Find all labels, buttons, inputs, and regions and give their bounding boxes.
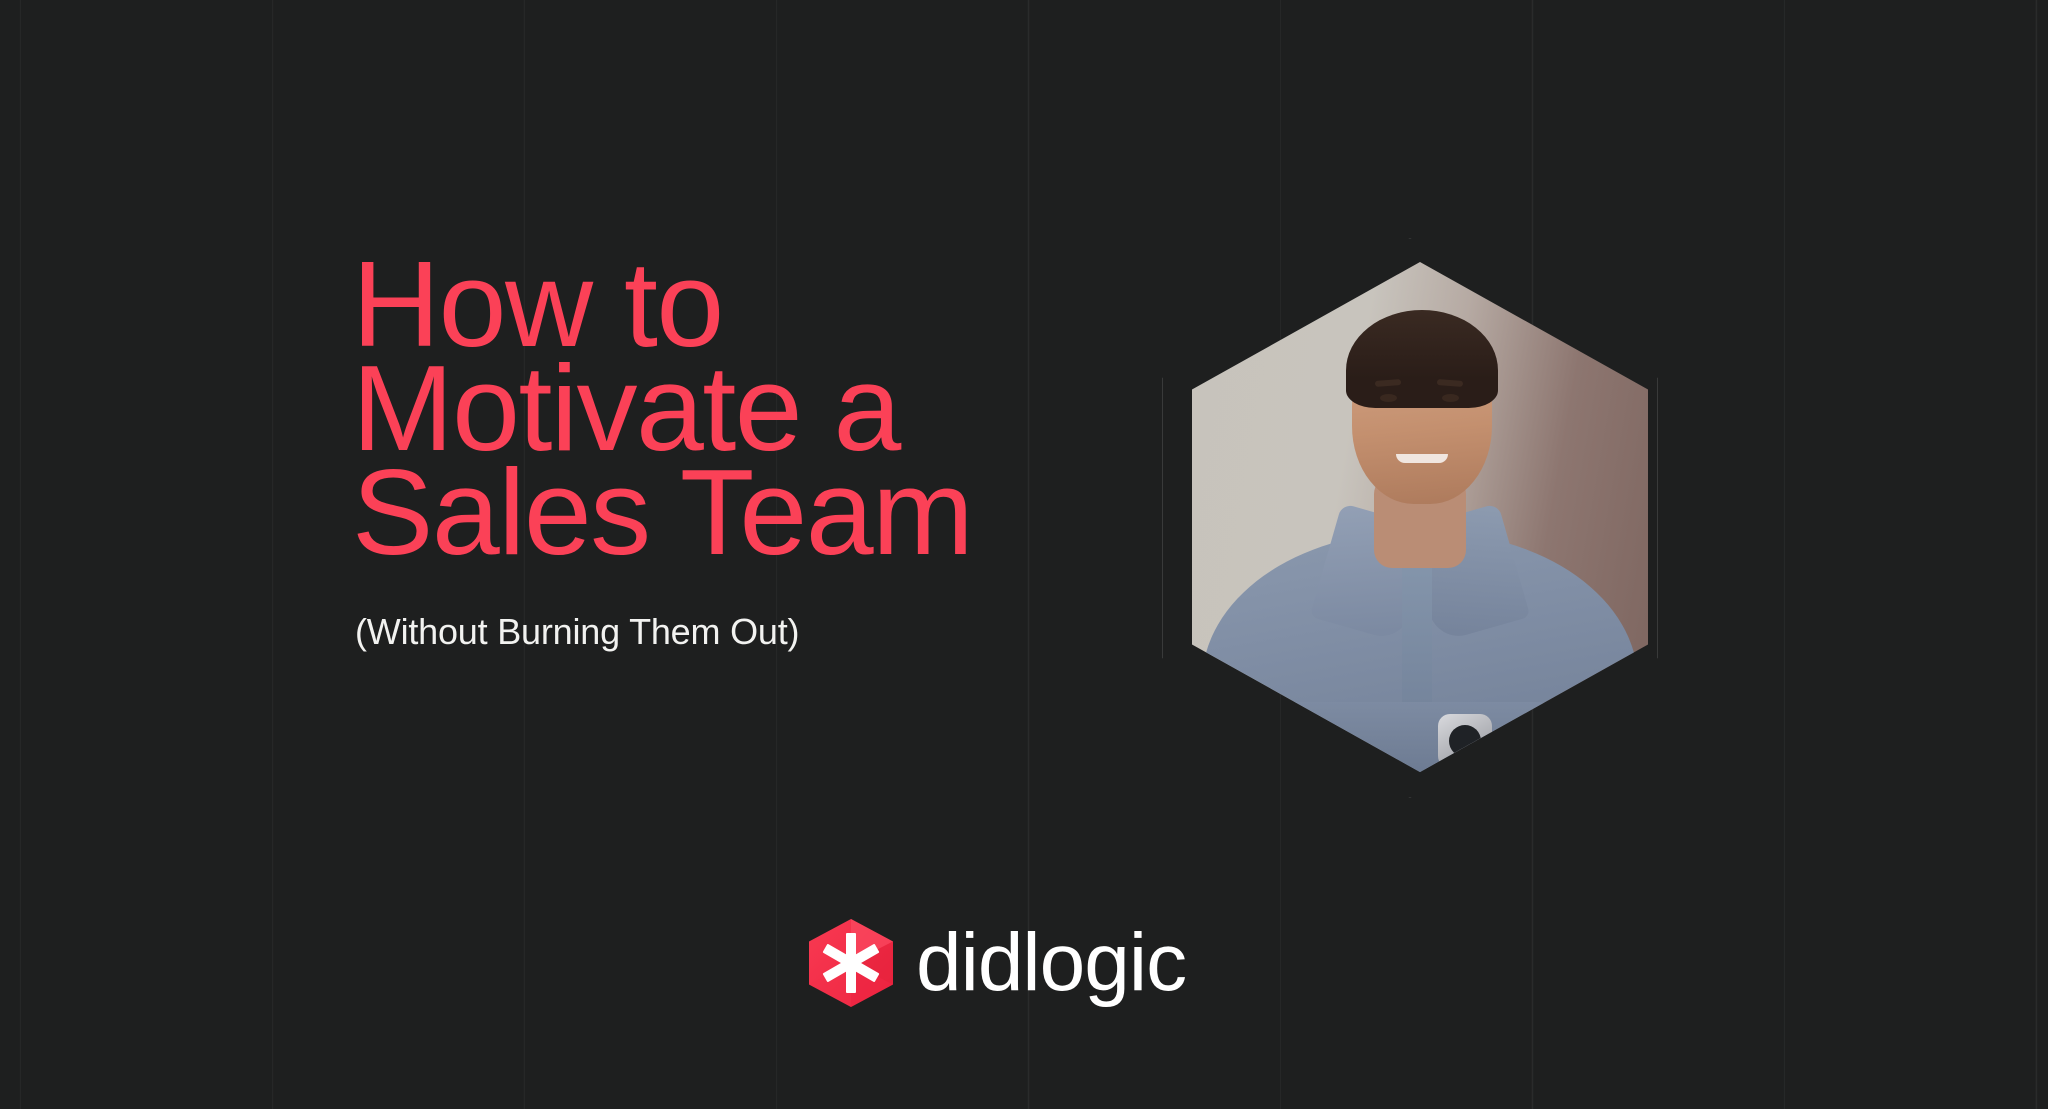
hero-text-block: How to Motivate a Sales Team (Without Bu… (352, 252, 1112, 654)
page-subtitle: (Without Burning Them Out) (355, 610, 1112, 654)
didlogic-hexagon-asterisk-icon (808, 918, 894, 1008)
portrait-hexagon (1148, 228, 1670, 808)
avatar (1192, 262, 1648, 772)
slide-canvas: How to Motivate a Sales Team (Without Bu… (0, 0, 2048, 1109)
brand-wordmark: didlogic (916, 922, 1186, 1004)
page-title: How to Motivate a Sales Team (352, 252, 1112, 564)
brand-lockup: didlogic (808, 918, 1186, 1008)
